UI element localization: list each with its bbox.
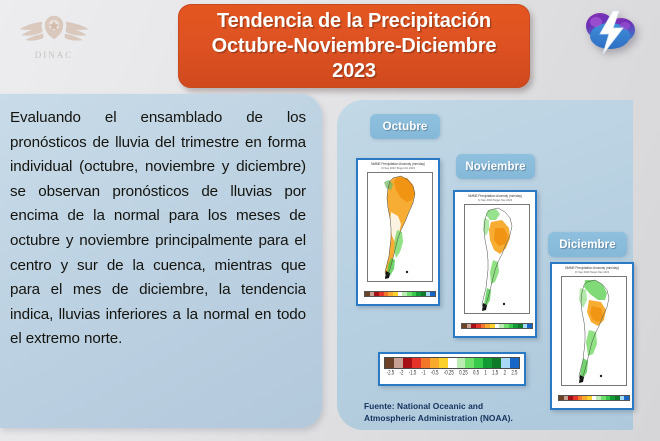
title-line-3: 2023 [332,59,376,84]
source-line-1: Fuente: National Oceanic and [364,400,594,412]
legend-swatch-11 [483,358,492,368]
legend-tick-7: 0.5 [470,369,481,376]
title-line-1: Tendencia de la Precipitación [217,9,491,34]
map-card-diciembre[interactable]: NMME Precipitation Anomaly (mm/day) IC S… [550,262,634,410]
legend-tick-8: 1 [482,369,490,376]
legend-swatch-12 [492,358,501,368]
legend-swatch-14 [510,358,519,368]
legend-swatch-10 [474,358,483,368]
month-badge-diciembre-label: Diciembre [559,239,616,251]
legend-tick-5: -0.25 [441,369,456,376]
source-line-2: Atmospheric Administration (NOAA). [364,412,594,424]
map-subtitle-noviembre: IC Sep 2023 Target Nov 2023 [455,199,535,203]
month-badge-octubre-label: Octubre [383,121,428,133]
dinac-wings-icon [6,8,102,54]
dinac-wordmark: DINAC [6,50,102,60]
map-title-diciembre: NMME Precipitation Anomaly (mm/day) [552,266,632,270]
month-badge-diciembre[interactable]: Diciembre [548,232,627,257]
legend-tick-0: -2.5 [384,369,397,376]
legend-swatch-9 [465,358,474,368]
legend-colorbar [384,357,520,369]
month-badge-octubre[interactable]: Octubre [370,114,440,139]
map-colorbar-noviembre [461,323,533,329]
legend-tick-3: -1 [419,369,428,376]
legend-swatch-7 [448,358,457,368]
map-axis-noviembre [464,204,530,314]
map-card-noviembre[interactable]: NMME Precipitation Anomaly (mm/day) IC S… [453,190,537,338]
map-subtitle-octubre: IC Sep 2023 Target Oct 2023 [358,167,438,171]
map-colorbar-octubre [364,291,436,297]
legend-tick-1: -2 [397,369,406,376]
summary-paragraph: Evaluando el ensamblado de los pronóstic… [10,106,306,352]
legend-tick-9: 1.5 [489,369,500,376]
source-note: Fuente: National Oceanic and Atmospheric… [364,400,594,424]
legend-tick-2: -1.5 [406,369,419,376]
map-title-noviembre: NMME Precipitation Anomaly (mm/day) [455,194,535,198]
legend-tick-4: -0.5 [428,369,441,376]
legend-swatch-0 [385,358,394,368]
legend-swatch-2 [403,358,412,368]
map-title-octubre: NMME Precipitation Anomaly (mm/day) [358,162,438,166]
storm-cloud-lightning-logo [580,6,642,60]
map-axis-diciembre [561,276,627,386]
title-banner: Tendencia de la Precipitación Octubre-No… [178,4,530,88]
map-axis-octubre [367,172,433,282]
legend-swatch-5 [430,358,439,368]
map-card-octubre[interactable]: NMME Precipitation Anomaly (mm/day) IC S… [356,158,440,306]
legend-swatch-3 [412,358,421,368]
legend-swatch-8 [457,358,466,368]
legend-tick-6: 0.25 [456,369,470,376]
legend-swatch-4 [421,358,430,368]
legend-swatch-1 [394,358,403,368]
legend-swatch-13 [501,358,510,368]
month-badge-noviembre[interactable]: Noviembre [456,154,535,179]
legend-tick-10: 2 [501,369,509,376]
map-subtitle-diciembre: IC Sep 2023 Target Dec 2023 [552,271,632,275]
precipitation-legend: -2.5-2-1.5-1-0.5-0.250.250.511.522.5 [378,352,526,386]
legend-swatch-6 [439,358,448,368]
legend-tick-labels: -2.5-2-1.5-1-0.5-0.250.250.511.522.5 [384,370,520,375]
legend-tick-11: 2.5 [509,369,520,376]
dinac-logo: DINAC [6,8,102,66]
month-badge-noviembre-label: Noviembre [465,161,525,173]
slide-canvas: DINAC Tendencia de la Precipitación Octu… [0,0,660,441]
title-line-2: Octubre-Noviembre-Diciembre [212,34,497,59]
summary-text-panel: Evaluando el ensamblado de los pronóstic… [0,94,322,428]
